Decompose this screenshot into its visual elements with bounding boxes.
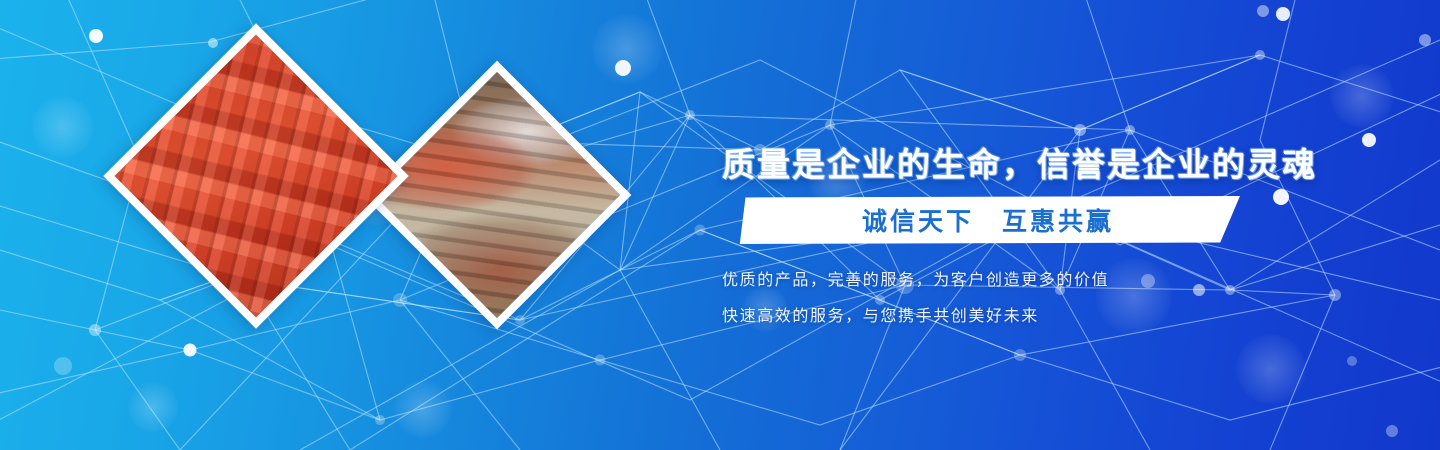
promo-banner: 质量是企业的生命，信誉是企业的灵魂 诚信天下 互惠共赢 优质的产品，完善的服务，… — [0, 0, 1440, 450]
banner-subtitle-line-1: 优质的产品，完善的服务，为客户创造更多的价值 — [722, 266, 1109, 290]
banner-headline: 质量是企业的生命，信誉是企业的灵魂 — [722, 138, 1317, 186]
banner-subtitle-line-2: 快速高效的服务，与您携手共创美好未来 — [722, 302, 1039, 326]
slogan-text: 诚信天下 互惠共赢 — [720, 196, 1240, 244]
